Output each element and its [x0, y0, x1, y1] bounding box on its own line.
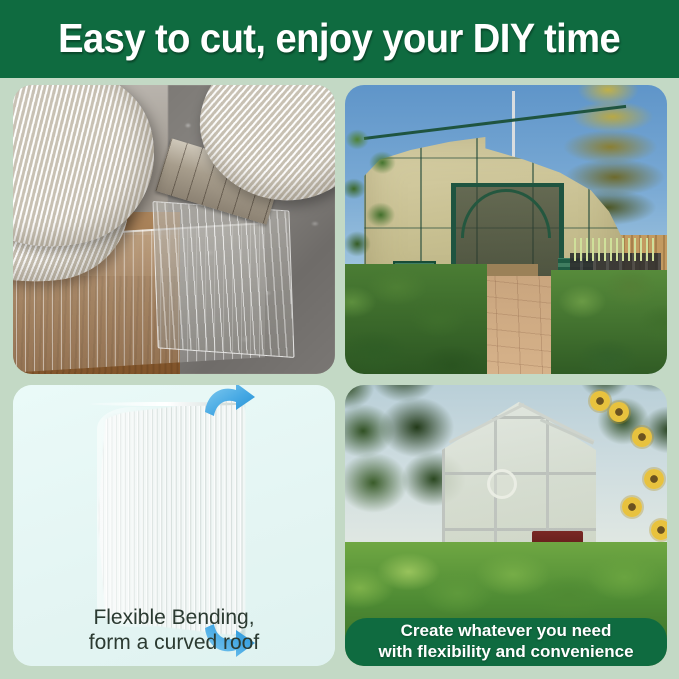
product-infographic: Easy to cut, enjoy your DIY time [0, 0, 679, 679]
panel-green-greenhouse [345, 85, 667, 374]
banner-line-2: with flexibility and convenience [378, 642, 633, 663]
fan-wheel [487, 469, 517, 499]
sunflower [609, 402, 629, 422]
bottom-caption-banner: Create whatever you need with flexibilit… [345, 618, 667, 666]
garden-greenhouse-photo: Create whatever you need with flexibilit… [345, 385, 667, 666]
green-greenhouse-photo [345, 85, 667, 374]
panel-flexible-bending: Flexible Bending, form a curved roof [13, 385, 335, 666]
sunflower [590, 391, 610, 411]
banner-line-1: Create whatever you need [401, 621, 612, 642]
panel-cutting-demo [13, 85, 335, 374]
bend-arrow-top-icon [203, 385, 257, 426]
title-banner: Easy to cut, enjoy your DIY time [0, 0, 679, 78]
seedlings [574, 238, 658, 261]
cutting-demo-photo [13, 85, 335, 374]
sunflower [651, 520, 667, 540]
flexible-bending-illustration: Flexible Bending, form a curved roof [13, 385, 335, 666]
polycarbonate-offcut [152, 201, 294, 358]
page-title: Easy to cut, enjoy your DIY time [58, 18, 620, 59]
caption-line-1: Flexible Bending, [13, 606, 335, 631]
garden-bed-left [345, 264, 487, 374]
panel-garden-greenhouse: Create whatever you need with flexibilit… [345, 385, 667, 666]
garden-bed-right [551, 270, 667, 374]
climbing-vine [345, 125, 416, 270]
flexible-bending-caption: Flexible Bending, form a curved roof [13, 606, 335, 656]
sunflower [632, 427, 652, 447]
caption-line-2: form a curved roof [13, 631, 335, 656]
curved-polycarbonate-sheet [98, 398, 245, 636]
